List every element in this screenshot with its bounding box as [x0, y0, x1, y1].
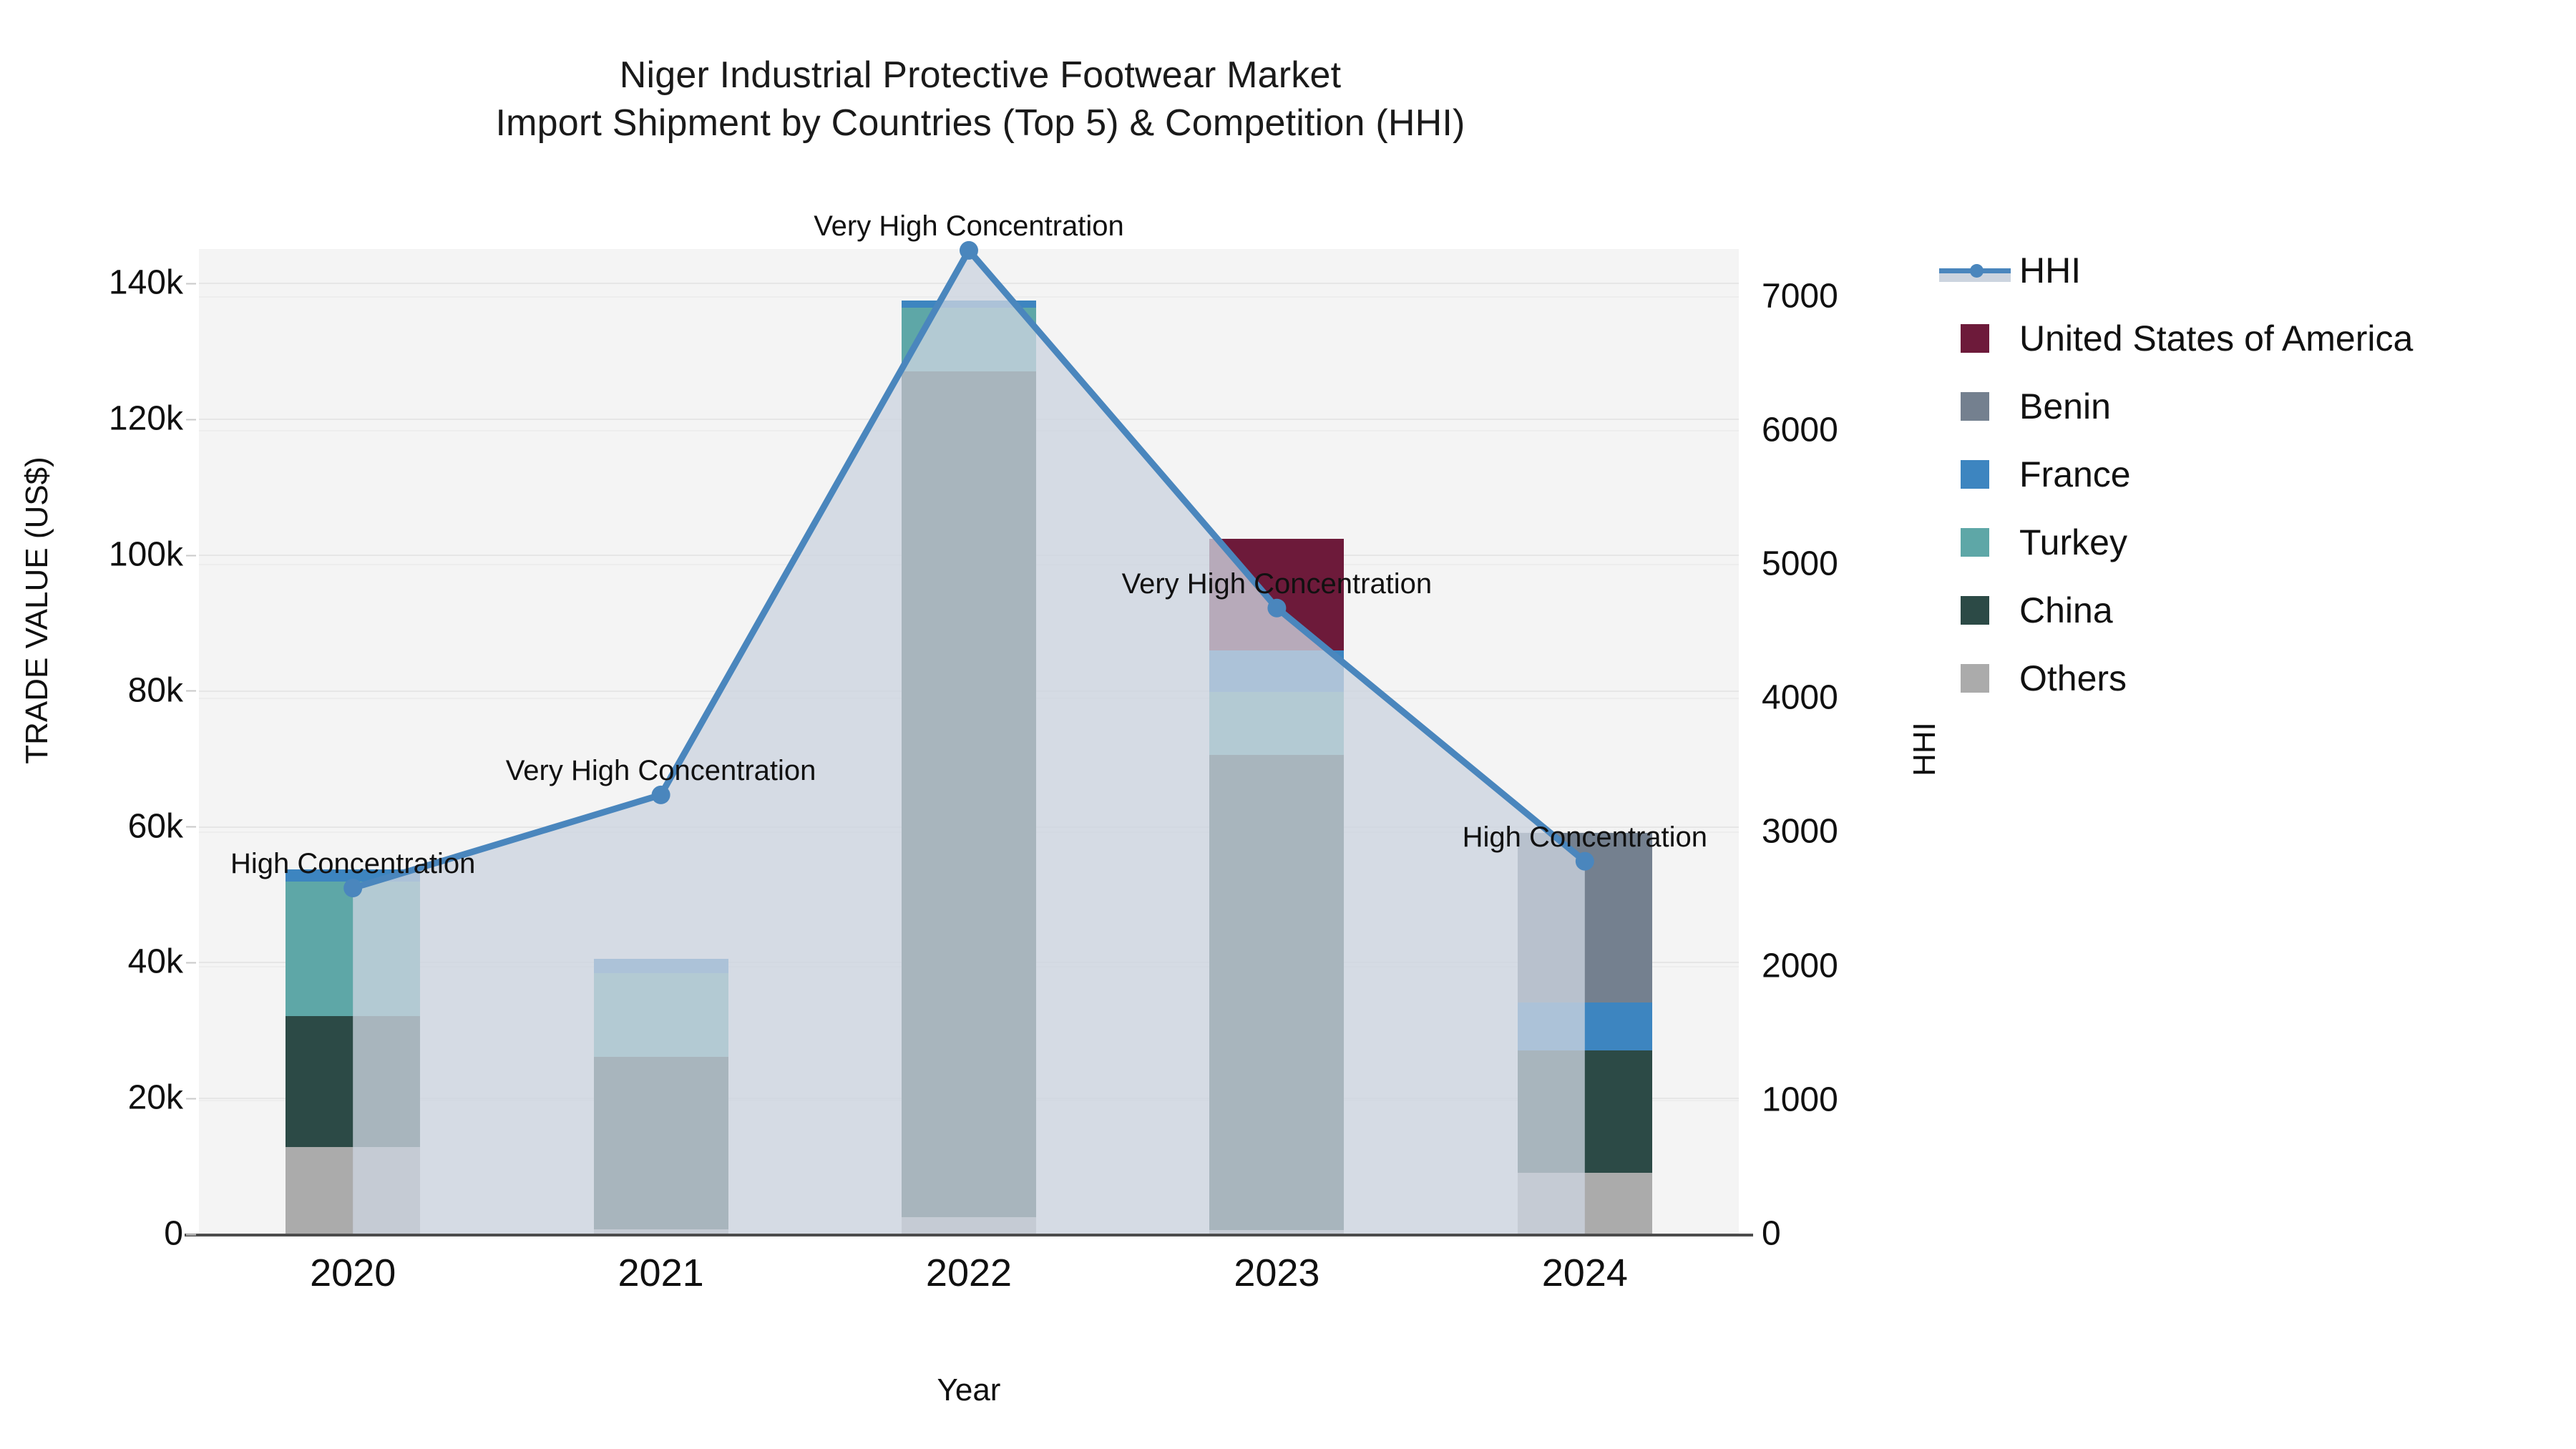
- bar-segment[interactable]: [286, 1147, 420, 1234]
- y-tick-mark-left: [186, 962, 196, 963]
- legend-label: Turkey: [2019, 522, 2127, 563]
- x-tick-2020: 2020: [245, 1251, 460, 1295]
- y-tick-mark-left: [186, 283, 196, 284]
- y-tick-left: 20k: [128, 1078, 183, 1118]
- legend-label: Others: [2019, 658, 2127, 699]
- legend-swatch-icon: [1961, 460, 1989, 489]
- y-tick-right: 5000: [1762, 544, 1838, 583]
- y-tick-left: 0: [164, 1214, 183, 1254]
- bar-segment[interactable]: [594, 1057, 728, 1229]
- hhi-annotation-2023: Very High Concentration: [1122, 568, 1433, 600]
- legend-label: Benin: [2019, 386, 2111, 427]
- legend-item-france[interactable]: France: [1939, 440, 2555, 508]
- legend-swatch-icon: [1961, 324, 1989, 353]
- bar-segment[interactable]: [1209, 692, 1344, 755]
- hhi-annotation-2020: High Concentration: [230, 848, 475, 880]
- legend-item-china[interactable]: China: [1939, 576, 2555, 644]
- chart-title: Niger Industrial Protective Footwear Mar…: [0, 52, 1961, 147]
- bar-segment[interactable]: [1518, 1002, 1652, 1050]
- gridline-right-7000: [199, 296, 1739, 298]
- y-tick-left: 80k: [128, 670, 183, 710]
- y-tick-right: 6000: [1762, 410, 1838, 449]
- legend-item-turkey[interactable]: Turkey: [1939, 508, 2555, 576]
- y-tick-mark-left: [186, 826, 196, 828]
- legend-swatch-icon: [1961, 392, 1989, 421]
- y-tick-right: 4000: [1762, 678, 1838, 718]
- legend-swatch-icon: [1961, 528, 1989, 557]
- bar-segment[interactable]: [1209, 650, 1344, 692]
- x-axis-label: Year: [199, 1372, 1739, 1408]
- legend-item-hhi[interactable]: HHI: [1939, 236, 2555, 304]
- chart-legend: HHIUnited States of AmericaBeninFranceTu…: [1939, 236, 2555, 712]
- y-tick-mark-left: [186, 1098, 196, 1099]
- bar-segment[interactable]: [1518, 1050, 1652, 1173]
- x-tick-2022: 2022: [862, 1251, 1076, 1295]
- bar-segment[interactable]: [594, 973, 728, 1058]
- legend-line-marker-icon: [1970, 264, 1984, 278]
- y-tick-left: 100k: [109, 535, 183, 575]
- bar-segment[interactable]: [1518, 833, 1652, 1002]
- hhi-annotation-2021: Very High Concentration: [506, 755, 816, 787]
- legend-item-united-states-of-america[interactable]: United States of America: [1939, 304, 2555, 372]
- bar-segment[interactable]: [286, 1016, 420, 1146]
- legend-label: China: [2019, 590, 2113, 631]
- x-tick-2024: 2024: [1478, 1251, 1692, 1295]
- x-tick-2023: 2023: [1169, 1251, 1384, 1295]
- bar-segment[interactable]: [1518, 1173, 1652, 1234]
- y-tick-left: 40k: [128, 942, 183, 982]
- legend-label: United States of America: [2019, 318, 2413, 359]
- bar-segment[interactable]: [1209, 755, 1344, 1230]
- y-tick-mark-left: [186, 1234, 196, 1235]
- hhi-annotation-2024: High Concentration: [1463, 821, 1707, 854]
- legend-swatch-icon: [1961, 596, 1989, 625]
- x-tick-2021: 2021: [554, 1251, 769, 1295]
- y-tick-right: 0: [1762, 1214, 1781, 1254]
- bar-segment[interactable]: [594, 959, 728, 973]
- legend-item-others[interactable]: Others: [1939, 644, 2555, 712]
- legend-line-icon: [1939, 256, 2011, 285]
- y-tick-left: 120k: [109, 399, 183, 439]
- bar-segment[interactable]: [902, 301, 1036, 308]
- legend-label: HHI: [2019, 250, 2081, 291]
- chart-title-line1: Niger Industrial Protective Footwear Mar…: [620, 54, 1342, 96]
- gridline-left-140k: [199, 283, 1739, 284]
- y-axis-left-label: TRADE VALUE (US$): [19, 410, 55, 811]
- y-tick-mark-left: [186, 555, 196, 556]
- y-tick-right: 1000: [1762, 1080, 1838, 1119]
- y-tick-left: 60k: [128, 806, 183, 846]
- y-tick-mark-left: [186, 691, 196, 692]
- legend-label: France: [2019, 454, 2131, 495]
- y-axis-right-label: HHI: [1907, 656, 1943, 842]
- hhi-annotation-2022: Very High Concentration: [814, 210, 1124, 243]
- y-tick-right: 3000: [1762, 812, 1838, 852]
- bar-segment[interactable]: [286, 882, 420, 1016]
- bar-segment[interactable]: [902, 1217, 1036, 1234]
- bar-segment[interactable]: [594, 1229, 728, 1234]
- bar-segment[interactable]: [902, 371, 1036, 1217]
- bar-segment[interactable]: [902, 308, 1036, 371]
- y-tick-right: 2000: [1762, 946, 1838, 985]
- y-tick-mark-left: [186, 419, 196, 420]
- bar-segment[interactable]: [1209, 1230, 1344, 1234]
- y-tick-right: 7000: [1762, 276, 1838, 316]
- legend-item-benin[interactable]: Benin: [1939, 372, 2555, 440]
- x-axis-line: [185, 1234, 1753, 1236]
- chart-title-line2: Import Shipment by Countries (Top 5) & C…: [0, 99, 1961, 147]
- y-tick-left: 140k: [109, 263, 183, 303]
- legend-swatch-icon: [1961, 664, 1989, 693]
